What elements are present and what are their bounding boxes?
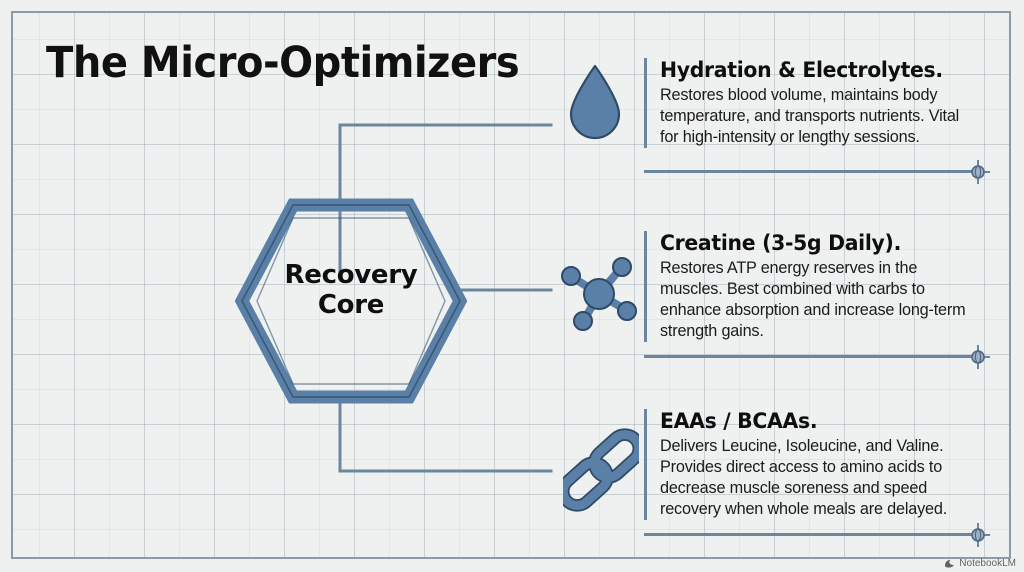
- item-underline-creatine: [644, 355, 977, 358]
- item-heading: Hydration & Electrolytes.: [660, 58, 974, 82]
- infographic-canvas: The Micro-Optimizers Recovery Core: [0, 0, 1024, 572]
- item-block-hydration: Hydration & Electrolytes. Restores blood…: [644, 58, 984, 148]
- hub-label-line2: Core: [235, 290, 467, 320]
- item-heading: Creatine (3-5g Daily).: [660, 231, 974, 255]
- recovery-core-hub: Recovery Core: [235, 198, 467, 404]
- notebooklm-logo-icon: [944, 558, 955, 569]
- item-underline-eaas: [644, 533, 977, 536]
- watermark-label: NotebookLM: [959, 558, 1016, 569]
- hub-label: Recovery Core: [235, 260, 467, 320]
- item-body: Restores blood volume, maintains body te…: [660, 85, 979, 148]
- crosshair-marker-creatine: [966, 345, 990, 369]
- item-underline-hydration: [644, 170, 977, 173]
- item-heading: EAAs / BCAAs.: [660, 409, 974, 433]
- item-block-creatine: Creatine (3-5g Daily). Restores ATP ener…: [644, 231, 984, 342]
- item-body: Restores ATP energy reserves in the musc…: [660, 258, 979, 342]
- hub-label-line1: Recovery: [235, 260, 467, 290]
- connector-eaas: [340, 405, 551, 471]
- graph-paper-frame: The Micro-Optimizers Recovery Core: [11, 11, 1011, 559]
- chain-link-icon: [563, 425, 639, 515]
- molecule-icon: [558, 256, 640, 334]
- crosshair-marker-eaas: [966, 523, 990, 547]
- notebooklm-watermark: NotebookLM: [944, 558, 1016, 569]
- item-body: Delivers Leucine, Isoleucine, and Valine…: [660, 436, 979, 520]
- water-drop-icon: [566, 63, 624, 141]
- item-block-eaas: EAAs / BCAAs. Delivers Leucine, Isoleuci…: [644, 409, 984, 520]
- crosshair-marker-hydration: [966, 160, 990, 184]
